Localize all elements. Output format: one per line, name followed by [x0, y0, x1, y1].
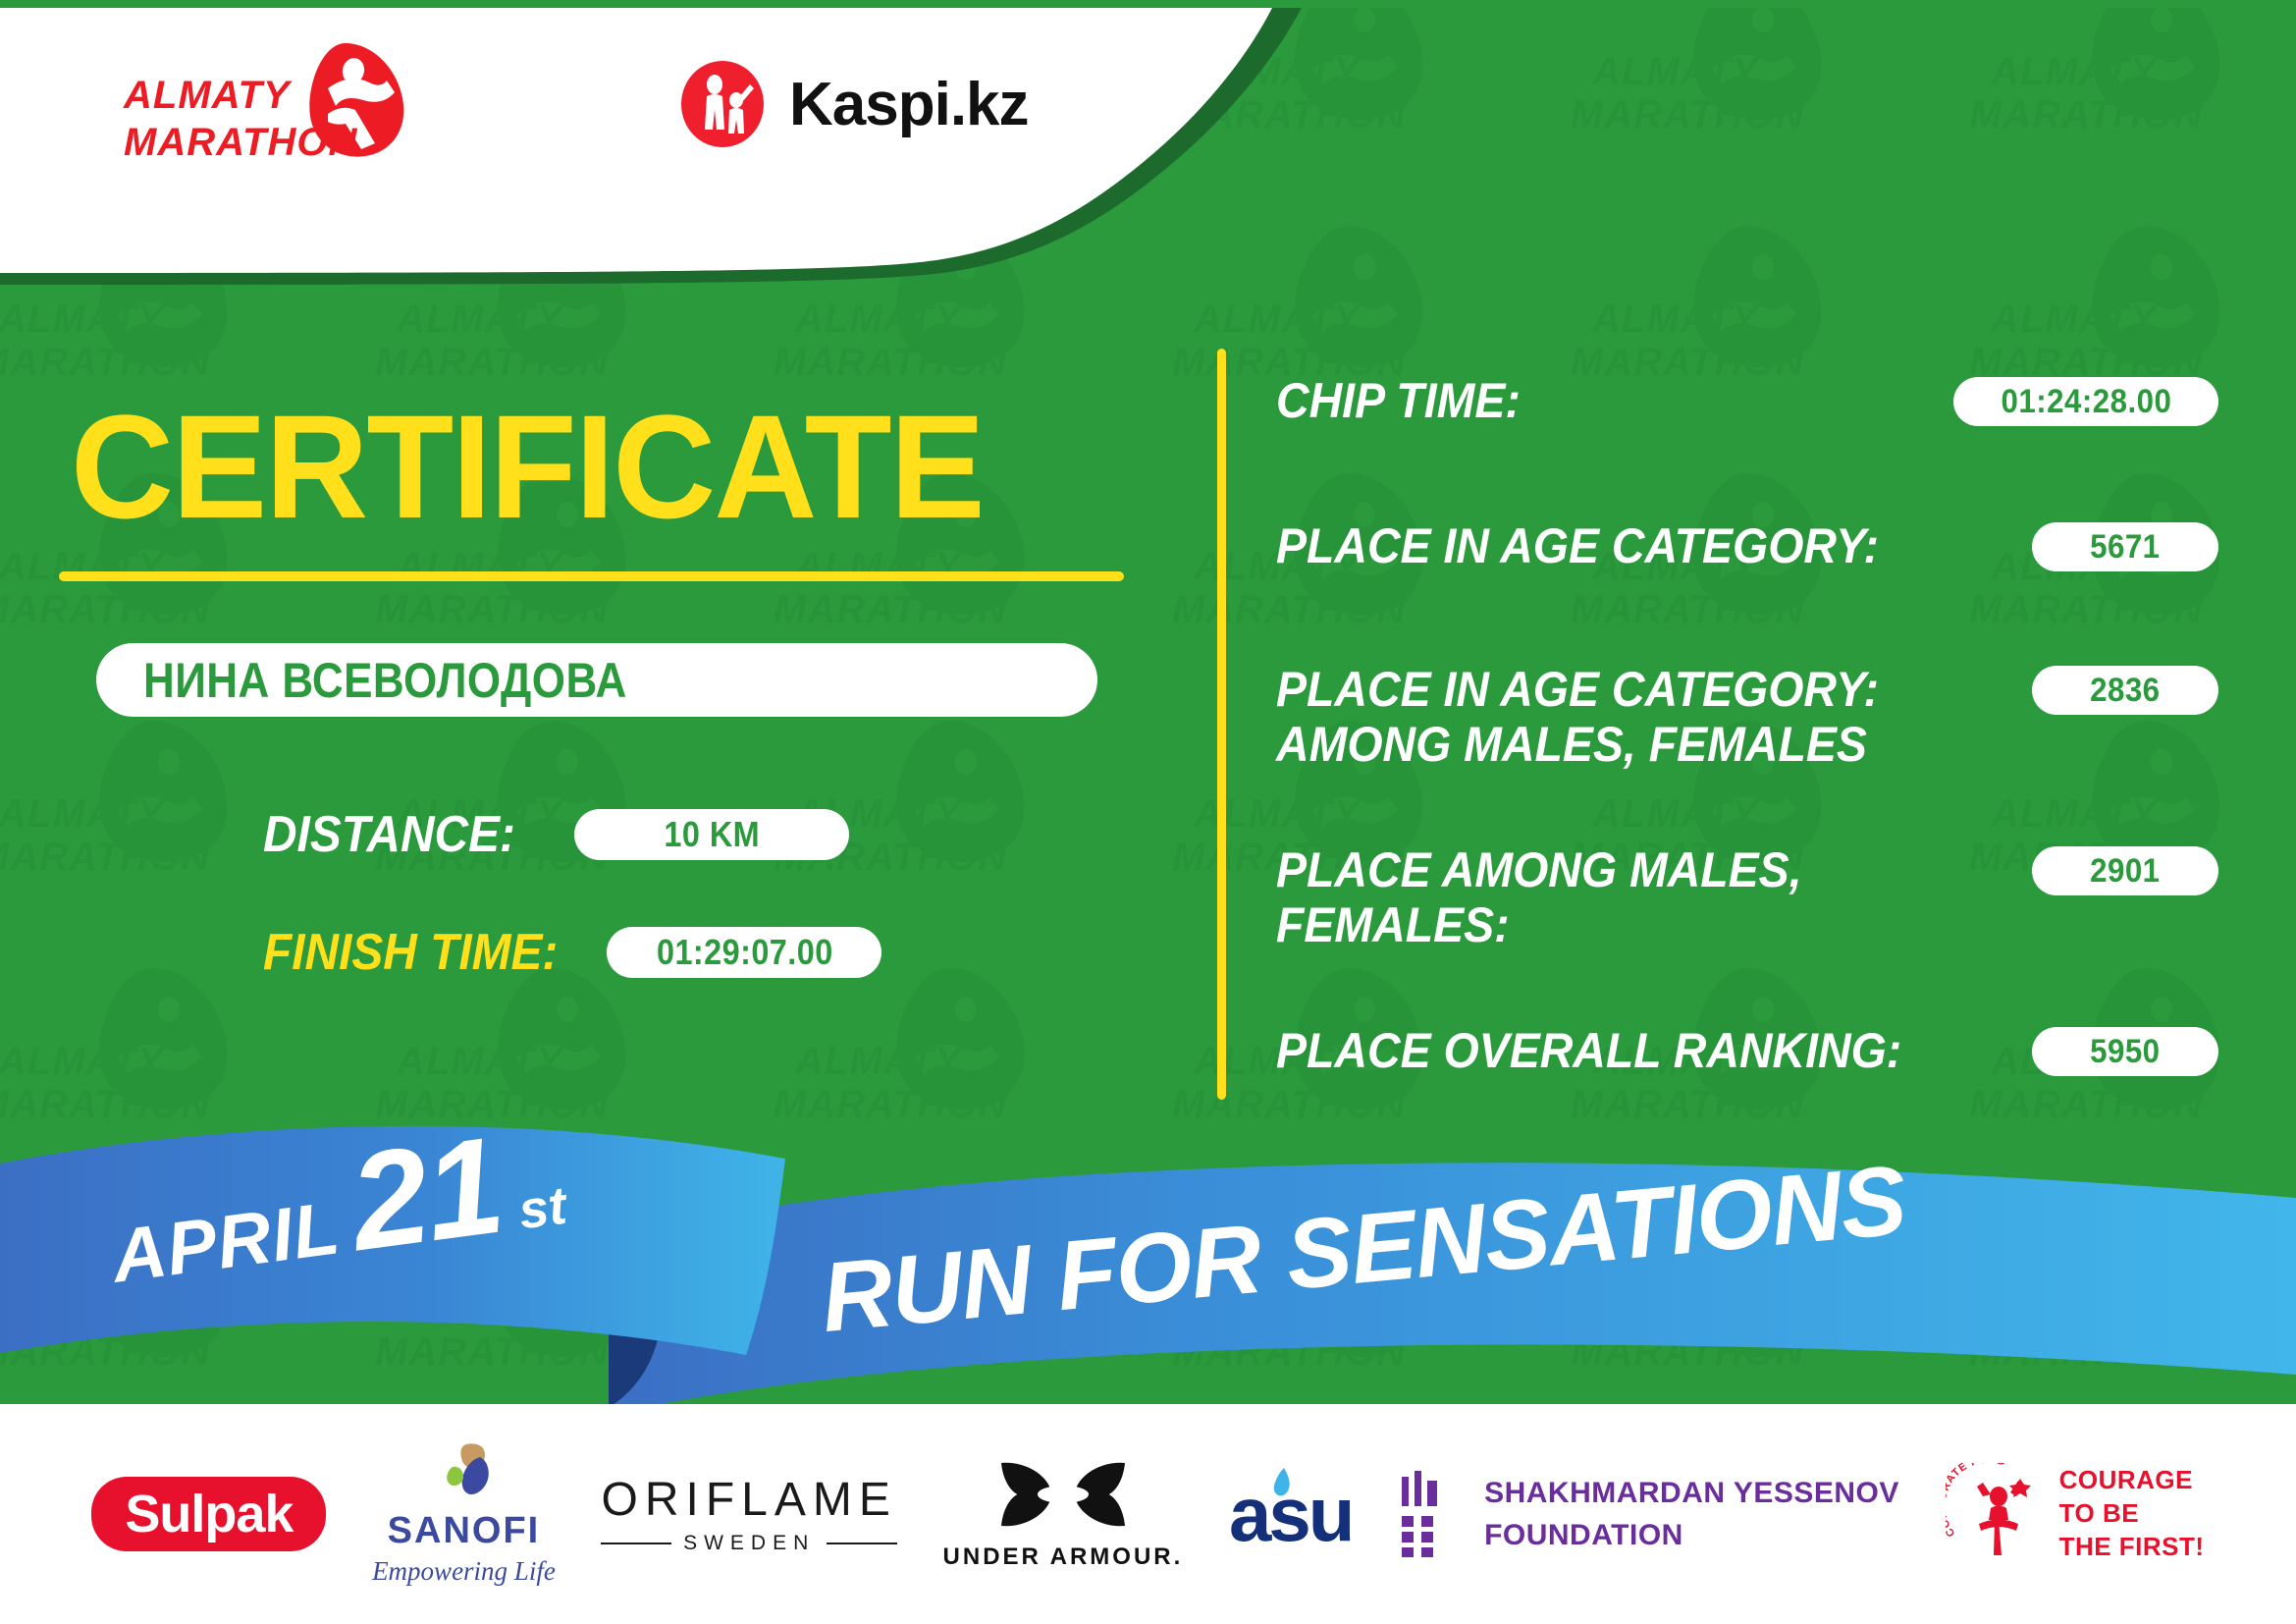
participant-name-field: НИНА ВСЕВОЛОДОВА — [96, 643, 1097, 717]
distance-label: DISTANCE: — [263, 805, 515, 864]
event-day-suffix: st — [515, 1175, 570, 1242]
finish-time-pill: 01:29:07.00 — [607, 927, 881, 978]
page-title: CERTIFICATE — [71, 393, 984, 540]
asu-droplet-icon — [1270, 1466, 1296, 1505]
courage-line2: TO BE — [2059, 1497, 2205, 1531]
column-divider — [1217, 349, 1226, 1100]
courage-fund-wordmark: COURAGE TO BE THE FIRST! — [2059, 1464, 2205, 1563]
sanofi-wordmark: SANOFI — [388, 1510, 541, 1552]
overall-ranking-pill: 5950 — [2032, 1027, 2218, 1076]
sponsor-courage-fund: CORPORATE FUND COURAGE TO BE THE FIRST! — [1946, 1463, 2205, 1565]
results-list: CHIP TIME: 01:24:28.00 PLACE IN AGE CATE… — [1276, 373, 2218, 1078]
result-row-age-category-gender: PLACE IN AGE CATEGORY: AMONG MALES, FEMA… — [1276, 662, 2218, 772]
result-row-among-gender: PLACE AMONG MALES, FEMALES: 2901 — [1276, 842, 2218, 952]
age-category-gender-pill: 2836 — [2032, 666, 2218, 715]
among-gender-label: PLACE AMONG MALES, FEMALES: — [1276, 842, 1979, 952]
sponsor-yessenov-foundation: SHAKHMARDAN YESSENOV FOUNDATION — [1398, 1471, 1899, 1557]
age-category-gender-value: 2836 — [2090, 672, 2160, 710]
overall-ranking-value: 5950 — [2090, 1033, 2160, 1071]
age-category-value: 5671 — [2090, 528, 2160, 567]
sulpak-wordmark: Sulpak — [125, 1487, 293, 1543]
among-gender-value: 2901 — [2090, 852, 2160, 891]
distance-pill: 10 KM — [574, 809, 849, 860]
chip-time-label: CHIP TIME: — [1276, 373, 1906, 428]
top-accent-rule — [0, 0, 2296, 8]
sponsor-asu: asu — [1229, 1470, 1352, 1559]
courage-fund-icon: CORPORATE FUND — [1946, 1463, 2048, 1565]
kaspi-logo: Kaspi.kz — [677, 59, 1029, 149]
under-armour-wordmark: UNDER ARMOUR. — [943, 1543, 1184, 1571]
sponsor-sanofi: SANOFI Empowering Life — [372, 1441, 556, 1587]
under-armour-icon — [989, 1457, 1137, 1538]
finish-time-value: 01:29:07.00 — [657, 932, 833, 973]
oriflame-sweden: SWEDEN — [683, 1532, 815, 1555]
almaty-word: ALMATY — [123, 74, 293, 117]
sponsor-under-armour: UNDER ARMOUR. — [943, 1457, 1184, 1571]
sanofi-tagline: Empowering Life — [372, 1556, 556, 1587]
oriflame-rule-right — [827, 1543, 897, 1544]
chip-time-pill: 01:24:28.00 — [1953, 377, 2218, 426]
certificate-page: ALMATY MARATHON ALMATY — [0, 0, 2296, 1624]
result-row-overall: PLACE OVERALL RANKING: 5950 — [1276, 1023, 2218, 1078]
yessenov-line1: SHAKHMARDAN YESSENOV — [1484, 1472, 1899, 1515]
courage-line3: THE FIRST! — [2059, 1531, 2205, 1564]
header-panel: ALMATY MARATHON Kaspi.kz — [0, 0, 1492, 295]
kaspi-icon — [677, 59, 768, 149]
sanofi-icon — [423, 1441, 504, 1508]
event-day: 21 — [344, 1123, 507, 1266]
yessenov-icon — [1398, 1471, 1463, 1557]
distance-row: DISTANCE: 10 KM — [263, 805, 849, 864]
sponsor-sulpak: Sulpak — [91, 1477, 326, 1552]
chip-time-value: 01:24:28.00 — [2001, 383, 2171, 421]
oriflame-rule-left — [601, 1543, 671, 1544]
finish-time-label: FINISH TIME: — [263, 923, 558, 982]
kaspi-wordmark: Kaspi.kz — [789, 70, 1029, 139]
sponsor-oriflame: ORIFLAME SWEDEN — [601, 1473, 896, 1555]
header-logos: ALMATY MARATHON Kaspi.kz — [0, 0, 1178, 191]
result-row-age-category: PLACE IN AGE CATEGORY: 5671 — [1276, 518, 2218, 573]
courage-line1: COURAGE — [2059, 1464, 2205, 1497]
age-category-gender-label: PLACE IN AGE CATEGORY: AMONG MALES, FEMA… — [1276, 662, 1979, 772]
overall-ranking-label: PLACE OVERALL RANKING: — [1276, 1023, 1979, 1078]
result-row-chip-time: CHIP TIME: 01:24:28.00 — [1276, 373, 2218, 428]
oriflame-subline: SWEDEN — [601, 1532, 896, 1555]
among-gender-pill: 2901 — [2032, 846, 2218, 895]
age-category-label: PLACE IN AGE CATEGORY: — [1276, 518, 1979, 573]
participant-name: НИНА ВСЕВОЛОДОВА — [143, 652, 627, 709]
title-underline — [59, 571, 1124, 581]
age-category-pill: 5671 — [2032, 522, 2218, 571]
yessenov-line2: FOUNDATION — [1484, 1514, 1899, 1557]
distance-value: 10 KM — [664, 814, 760, 855]
finish-time-row: FINISH TIME: 01:29:07.00 — [263, 923, 881, 982]
almaty-marathon-logo: ALMATY MARATHON — [118, 37, 432, 165]
sponsor-bar: Sulpak SANOFI Empowering Life ORIFLAME S… — [0, 1404, 2296, 1624]
marathon-word: MARATHON — [124, 121, 357, 164]
oriflame-wordmark: ORIFLAME — [601, 1473, 896, 1527]
yessenov-wordmark: SHAKHMARDAN YESSENOV FOUNDATION — [1484, 1472, 1899, 1557]
